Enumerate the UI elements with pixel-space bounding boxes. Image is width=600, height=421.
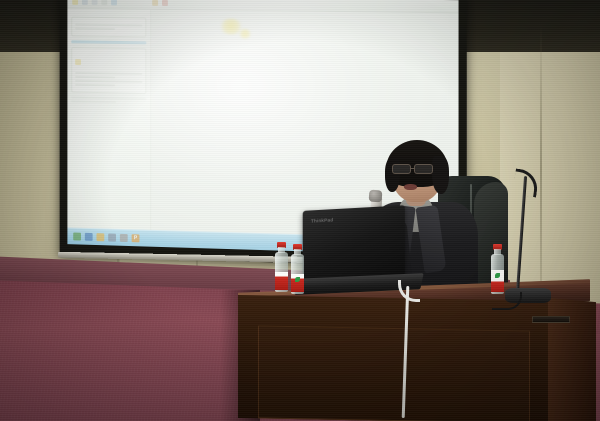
browser-icon[interactable] xyxy=(85,233,93,241)
start-button[interactable] xyxy=(73,232,81,240)
laptop-brand-label: ThinkPad xyxy=(311,217,333,223)
list-item xyxy=(193,22,451,25)
desk-nameplate xyxy=(532,316,570,323)
list-item xyxy=(193,22,451,25)
microphone-head-icon xyxy=(369,190,383,203)
media-icon[interactable] xyxy=(120,234,128,242)
list-item xyxy=(193,22,451,25)
laptop[interactable]: ThinkPad xyxy=(303,205,405,284)
folder-icon[interactable] xyxy=(72,0,78,5)
glasses-icon xyxy=(392,164,442,174)
presenter-mouth xyxy=(404,184,417,190)
presenter-hair-right xyxy=(432,156,449,194)
window-icon[interactable] xyxy=(108,234,116,242)
podium-front-panel xyxy=(258,325,530,421)
slide-bullet-list xyxy=(159,22,450,26)
list-item xyxy=(193,22,451,25)
search-icon[interactable] xyxy=(162,0,168,6)
side-panel-card[interactable] xyxy=(71,17,146,38)
note-chip-icon xyxy=(75,59,81,65)
side-panel-card-2[interactable] xyxy=(71,47,146,94)
list-item xyxy=(193,22,451,25)
list-item xyxy=(193,22,451,25)
slide-paragraph xyxy=(159,20,450,24)
highlight-blob-icon-2 xyxy=(238,29,252,39)
slide-paragraph xyxy=(159,20,450,24)
folder-icon[interactable] xyxy=(97,233,105,241)
highlight-blob-icon xyxy=(218,18,244,34)
lecture-hall-photo: P ThinkPad xyxy=(0,0,600,421)
slide-paragraph xyxy=(159,20,450,24)
side-panel-accent-bar xyxy=(71,40,146,44)
powerpoint-icon[interactable]: P xyxy=(132,234,140,242)
forward-arrow-icon[interactable] xyxy=(92,0,98,5)
refresh-icon[interactable] xyxy=(101,0,107,5)
slide-heading xyxy=(159,16,450,20)
print-icon[interactable] xyxy=(152,0,158,6)
side-panel[interactable] xyxy=(67,9,151,230)
back-arrow-icon[interactable] xyxy=(82,0,88,5)
slide-paragraph xyxy=(159,20,450,24)
side-panel-title xyxy=(71,14,146,15)
home-icon[interactable] xyxy=(111,0,117,5)
wall-seam-right xyxy=(540,24,542,314)
